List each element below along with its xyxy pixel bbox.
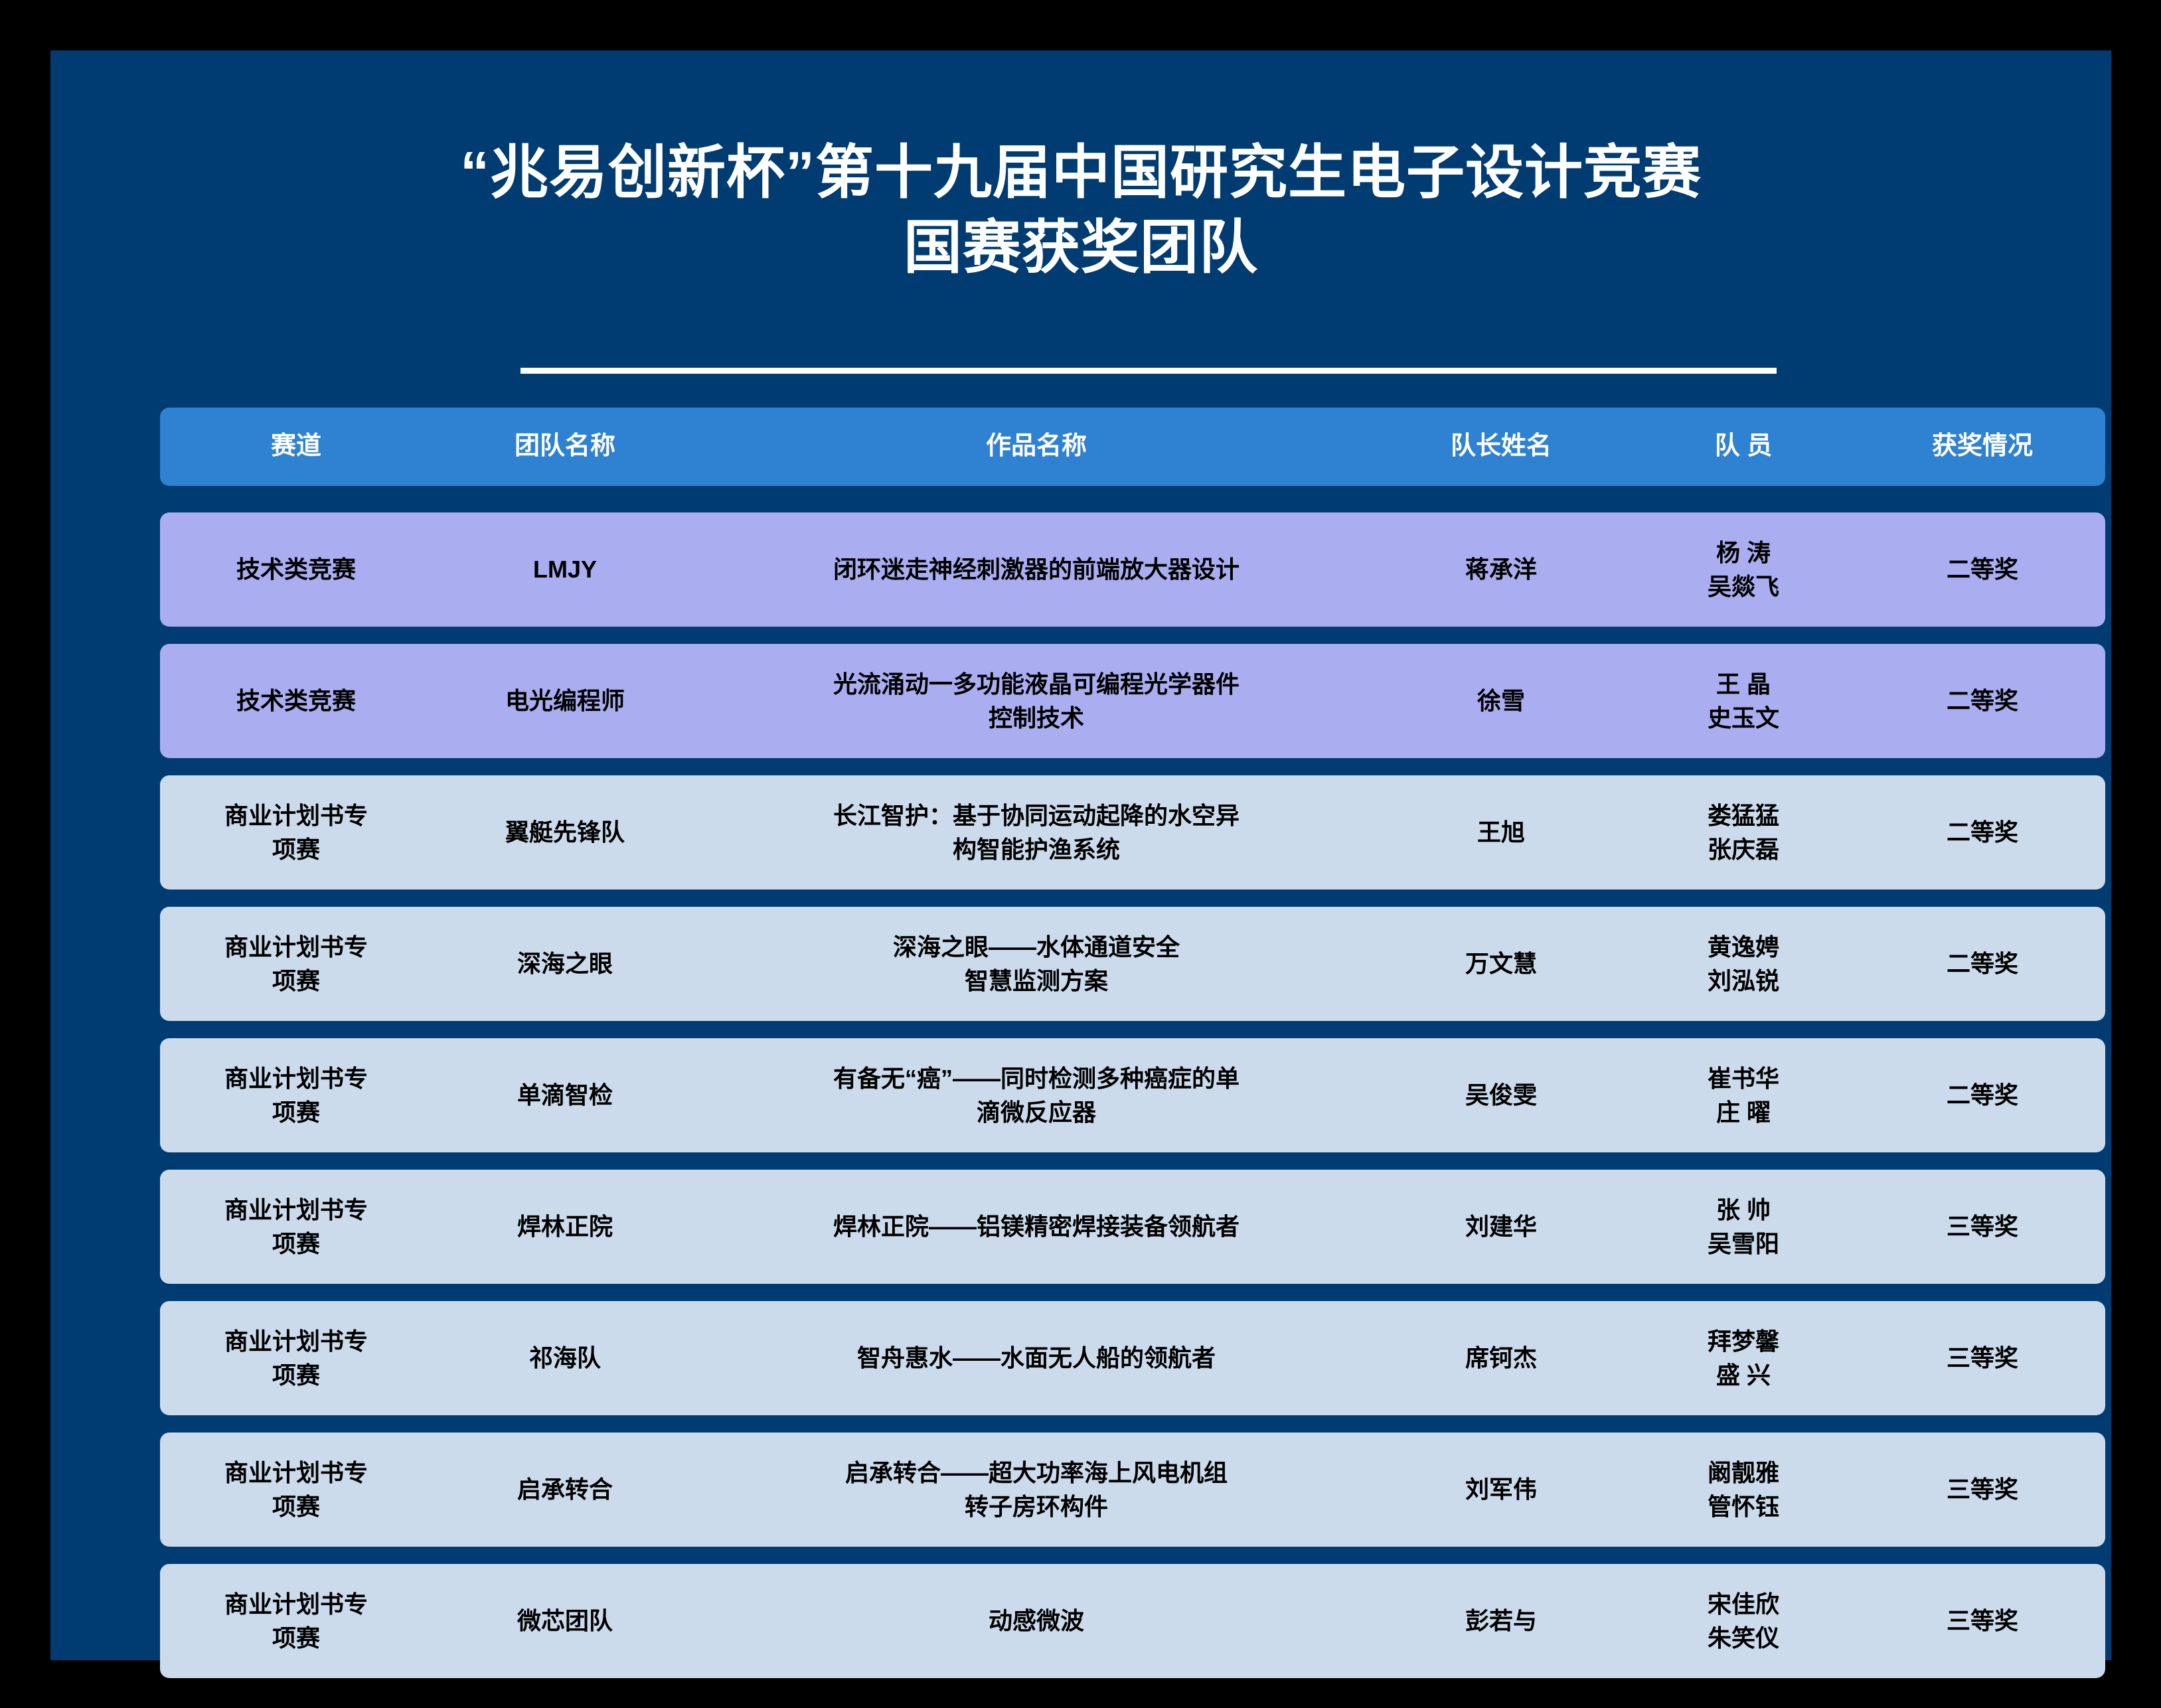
- cell-leader: 彭若与: [1375, 1594, 1627, 1647]
- cell-award: 三等奖: [1860, 1594, 2105, 1647]
- cell-team: 翼艇先锋队: [432, 806, 698, 858]
- table-header-row: 赛道 团队名称 作品名称 队长姓名 队 员 获奖情况: [160, 408, 2105, 486]
- cell-track: 商业计划书专 项赛: [160, 1315, 432, 1401]
- cell-team: 微芯团队: [432, 1594, 698, 1647]
- column-header-team: 团队名称: [432, 420, 698, 474]
- cell-leader: 刘建华: [1375, 1200, 1627, 1253]
- cell-track: 技术类竞赛: [160, 543, 432, 595]
- table-row: 商业计划书专 项赛深海之眼深海之眼——水体通道安全 智慧监测方案万文慧黄逸娉 刘…: [160, 907, 2105, 1021]
- cell-award: 二等奖: [1860, 937, 2105, 990]
- cell-leader: 蒋承洋: [1375, 543, 1627, 595]
- page-title-line-2: 国赛获奖团队: [50, 210, 2111, 285]
- cell-work: 长江智护：基于协同运动起降的水空异 构智能护渔系统: [698, 789, 1375, 876]
- cell-track: 商业计划书专 项赛: [160, 1446, 432, 1533]
- cell-award: 三等奖: [1860, 1332, 2105, 1384]
- cell-work: 光流涌动一多功能液晶可编程光学器件 控制技术: [698, 658, 1375, 744]
- title-block: “兆易创新杯”第十九届中国研究生电子设计竞赛 国赛获奖团队: [50, 135, 2111, 285]
- awards-table: 赛道 团队名称 作品名称 队长姓名 队 员 获奖情况 技术类竞赛LMJY闭环迷走…: [160, 408, 2105, 1695]
- table-row: 商业计划书专 项赛翼艇先锋队长江智护：基于协同运动起降的水空异 构智能护渔系统王…: [160, 775, 2105, 890]
- table-body: 技术类竞赛LMJY闭环迷走神经刺激器的前端放大器设计蒋承洋杨 涛 吴燚飞二等奖技…: [160, 512, 2105, 1678]
- cell-award: 二等奖: [1860, 543, 2105, 595]
- cell-team: 电光编程师: [432, 674, 698, 727]
- cell-members: 拜梦馨 盛 兴: [1627, 1315, 1860, 1401]
- table-row: 商业计划书专 项赛祁海队智舟惠水——水面无人船的领航者席钶杰拜梦馨 盛 兴三等奖: [160, 1301, 2105, 1415]
- title-divider: [520, 368, 1777, 374]
- column-header-award: 获奖情况: [1860, 420, 2105, 474]
- cell-members: 崔书华 庄 曜: [1627, 1052, 1860, 1138]
- cell-track: 商业计划书专 项赛: [160, 1184, 432, 1270]
- table-row: 商业计划书专 项赛单滴智检有备无“癌”——同时检测多种癌症的单 滴微反应器吴俊雯…: [160, 1038, 2105, 1152]
- cell-track: 商业计划书专 项赛: [160, 1052, 432, 1138]
- cell-leader: 吴俊雯: [1375, 1069, 1627, 1121]
- cell-track: 技术类竞赛: [160, 674, 432, 727]
- cell-members: 宋佳欣 朱笑仪: [1627, 1578, 1860, 1664]
- cell-work: 有备无“癌”——同时检测多种癌症的单 滴微反应器: [698, 1052, 1375, 1138]
- cell-track: 商业计划书专 项赛: [160, 1578, 432, 1664]
- cell-award: 三等奖: [1860, 1463, 2105, 1515]
- cell-work: 动感微波: [698, 1594, 1375, 1647]
- cell-team: 深海之眼: [432, 937, 698, 990]
- cell-team: 启承转合: [432, 1463, 698, 1515]
- cell-team: 焊林正院: [432, 1200, 698, 1253]
- column-header-work: 作品名称: [698, 420, 1375, 474]
- cell-leader: 刘军伟: [1375, 1463, 1627, 1515]
- cell-leader: 席钶杰: [1375, 1332, 1627, 1384]
- cell-team: LMJY: [432, 543, 698, 595]
- column-header-leader: 队长姓名: [1375, 420, 1627, 474]
- cell-award: 二等奖: [1860, 1069, 2105, 1121]
- cell-members: 杨 涛 吴燚飞: [1627, 526, 1860, 613]
- cell-members: 娄猛猛 张庆磊: [1627, 789, 1860, 876]
- column-header-members: 队 员: [1627, 420, 1860, 474]
- cell-work: 启承转合——超大功率海上风电机组 转子房环构件: [698, 1446, 1375, 1533]
- cell-award: 三等奖: [1860, 1200, 2105, 1253]
- cell-leader: 万文慧: [1375, 937, 1627, 990]
- cell-work: 闭环迷走神经刺激器的前端放大器设计: [698, 543, 1375, 595]
- cell-team: 祁海队: [432, 1332, 698, 1384]
- column-header-track: 赛道: [160, 420, 432, 474]
- slide-canvas: “兆易创新杯”第十九届中国研究生电子设计竞赛 国赛获奖团队 赛道 团队名称 作品…: [50, 50, 2111, 1660]
- cell-award: 二等奖: [1860, 806, 2105, 858]
- table-row: 技术类竞赛电光编程师光流涌动一多功能液晶可编程光学器件 控制技术徐雪王 晶 史玉…: [160, 644, 2105, 758]
- cell-members: 王 晶 史玉文: [1627, 658, 1860, 744]
- cell-members: 阚靓雅 管怀钰: [1627, 1446, 1860, 1533]
- cell-track: 商业计划书专 项赛: [160, 921, 432, 1007]
- table-row: 商业计划书专 项赛启承转合启承转合——超大功率海上风电机组 转子房环构件刘军伟阚…: [160, 1433, 2105, 1547]
- table-row: 技术类竞赛LMJY闭环迷走神经刺激器的前端放大器设计蒋承洋杨 涛 吴燚飞二等奖: [160, 512, 2105, 627]
- cell-team: 单滴智检: [432, 1069, 698, 1121]
- cell-track: 商业计划书专 项赛: [160, 789, 432, 876]
- cell-leader: 王旭: [1375, 806, 1627, 858]
- cell-members: 张 帅 吴雪阳: [1627, 1184, 1860, 1270]
- table-row: 商业计划书专 项赛焊林正院焊林正院——铝镁精密焊接装备领航者刘建华张 帅 吴雪阳…: [160, 1170, 2105, 1284]
- cell-award: 二等奖: [1860, 674, 2105, 727]
- cell-work: 焊林正院——铝镁精密焊接装备领航者: [698, 1200, 1375, 1253]
- table-row: 商业计划书专 项赛微芯团队动感微波彭若与宋佳欣 朱笑仪三等奖: [160, 1564, 2105, 1678]
- page-title-line-1: “兆易创新杯”第十九届中国研究生电子设计竞赛: [50, 135, 2111, 210]
- cell-work: 深海之眼——水体通道安全 智慧监测方案: [698, 921, 1375, 1007]
- cell-leader: 徐雪: [1375, 674, 1627, 727]
- cell-members: 黄逸娉 刘泓锐: [1627, 921, 1860, 1007]
- cell-work: 智舟惠水——水面无人船的领航者: [698, 1332, 1375, 1384]
